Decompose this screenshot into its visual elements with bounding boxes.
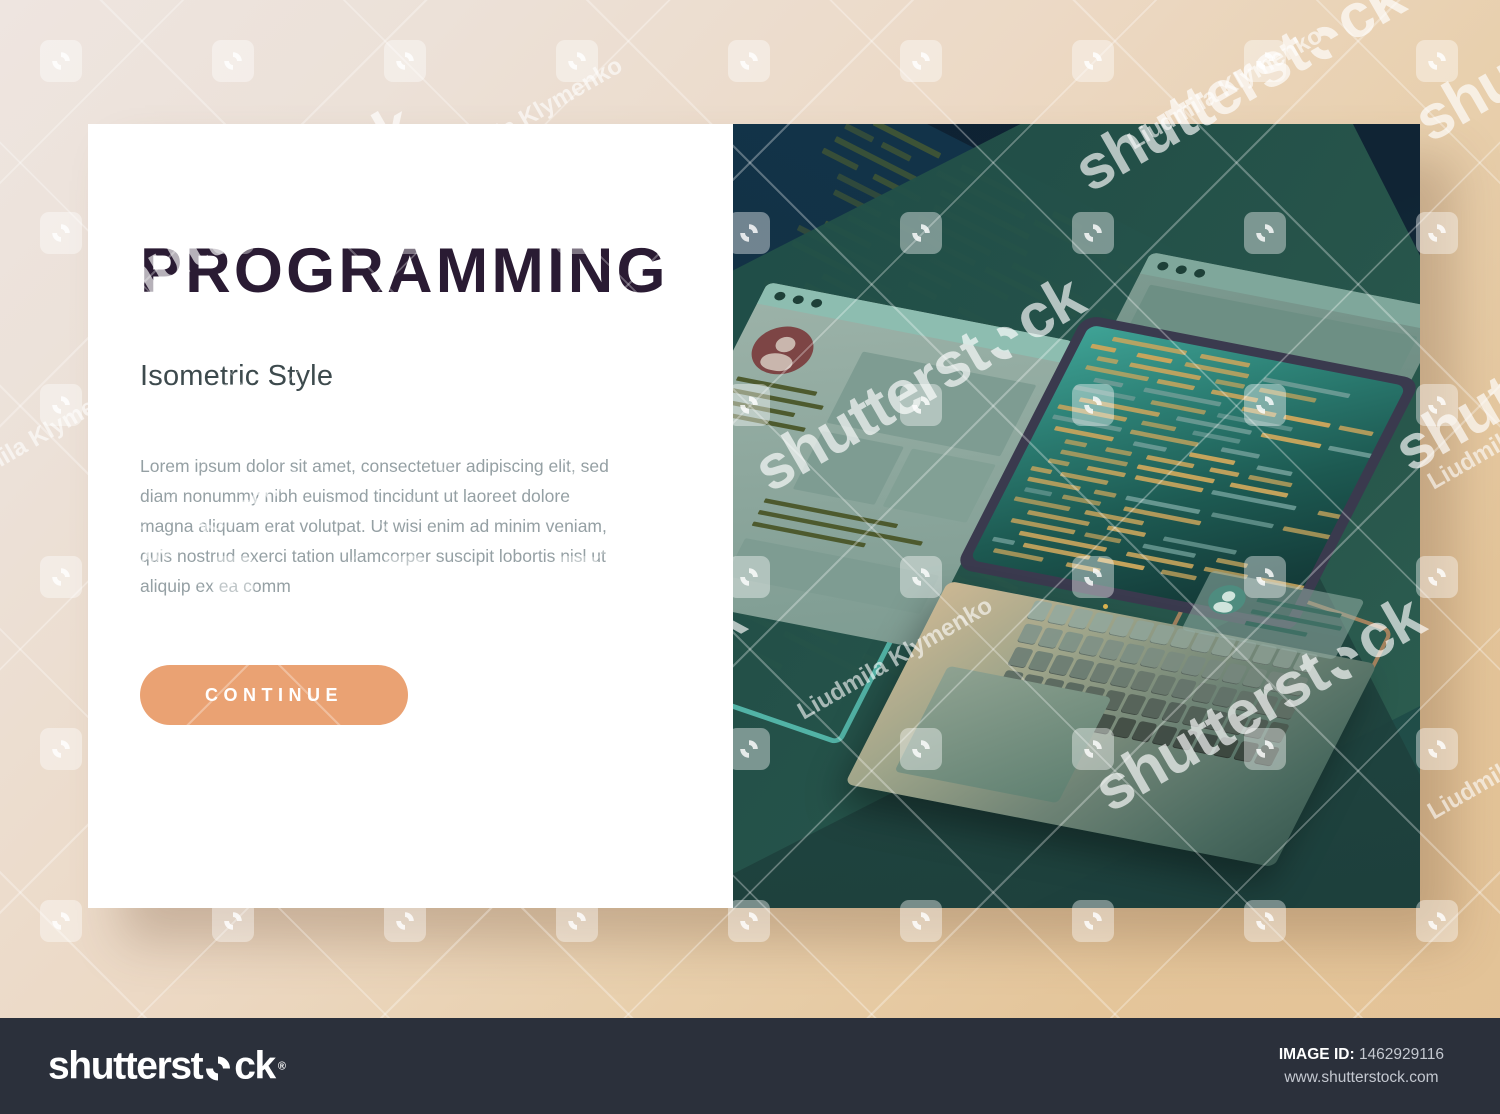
code-line <box>993 548 1044 562</box>
footer-bar: shutterst ck ® IMAGE ID: 1462929116 www.… <box>0 1018 1500 1114</box>
code-line <box>1141 421 1177 432</box>
continue-button[interactable]: CONTINUE <box>140 665 408 725</box>
shutter-logo-icon <box>1416 900 1458 942</box>
code-line <box>1220 447 1260 459</box>
shutter-logo-icon <box>728 40 770 82</box>
shutter-logo-icon <box>1416 556 1458 598</box>
shutter-logo-icon <box>900 40 942 82</box>
code-line <box>1260 433 1321 449</box>
code-line <box>1090 344 1117 353</box>
code-line <box>1105 447 1133 456</box>
code-line <box>1160 569 1197 580</box>
code-line <box>1256 465 1293 476</box>
code-line <box>1062 494 1102 506</box>
code-line <box>1211 512 1274 528</box>
user-avatar-icon <box>1202 582 1251 617</box>
shutter-logo-icon <box>556 40 598 82</box>
code-line <box>1156 379 1195 390</box>
code-line <box>1097 557 1145 570</box>
code-line <box>1132 441 1167 452</box>
shutter-logo-icon <box>384 40 426 82</box>
code-line <box>1086 466 1126 478</box>
code-line <box>1065 562 1101 573</box>
shutter-logo-icon <box>1416 384 1458 426</box>
shutter-aperture-icon <box>203 1051 233 1081</box>
hero-card: PROGRAMMING Isometric Style Lorem ipsum … <box>88 124 1420 908</box>
code-line <box>1093 489 1117 497</box>
laptop <box>853 304 1413 864</box>
image-id-row: IMAGE ID: 1462929116 <box>1279 1043 1444 1066</box>
shutter-logo-icon <box>40 384 82 426</box>
shutter-logo-icon <box>1416 212 1458 254</box>
code-line <box>1248 475 1293 488</box>
avatar-head <box>1220 590 1237 602</box>
shutter-logo-icon <box>1416 40 1458 82</box>
window-text-line <box>733 411 806 432</box>
shutter-logo-icon <box>40 900 82 942</box>
code-line <box>1136 353 1173 364</box>
code-line <box>992 537 1016 545</box>
shutter-logo-icon <box>1072 40 1114 82</box>
isometric-illustration <box>733 124 1420 908</box>
shutter-logo-icon <box>40 556 82 598</box>
avatar-body <box>1211 600 1234 614</box>
code-line <box>1338 425 1374 436</box>
code-line <box>844 124 874 143</box>
image-id-label: IMAGE ID: <box>1279 1046 1355 1063</box>
shutter-logo-icon <box>40 728 82 770</box>
logo-text-start: shutterst <box>48 1047 202 1086</box>
card-text-line <box>1244 621 1307 637</box>
page-title: PROGRAMMING <box>140 240 733 303</box>
footer-meta: IMAGE ID: 1462929116 www.shutterstock.co… <box>1279 1043 1444 1090</box>
watermark-author: Liudmila Klymenko <box>1423 362 1500 496</box>
laptop-webcam-icon <box>1103 604 1108 609</box>
image-id-value: 1462929116 <box>1359 1046 1444 1063</box>
code-line <box>1215 379 1246 389</box>
code-line <box>1192 430 1241 443</box>
avatar-body <box>757 351 796 374</box>
body-paragraph: Lorem ipsum dolor sit amet, consectetuer… <box>140 451 615 601</box>
code-line <box>1084 532 1122 543</box>
avatar-head <box>772 335 798 353</box>
shutter-logo-icon <box>1244 40 1286 82</box>
code-line <box>881 142 912 162</box>
logo-text-end: ck <box>234 1047 275 1086</box>
shutter-logo-icon <box>212 40 254 82</box>
code-line <box>1209 467 1240 477</box>
code-line <box>1106 525 1146 537</box>
watermark-author: Liudmila Klymenko <box>1423 692 1500 826</box>
screenshot-stage: PROGRAMMING Isometric Style Lorem ipsum … <box>0 0 1500 1114</box>
code-line <box>1216 558 1249 568</box>
shutter-logo-icon <box>40 212 82 254</box>
illustration-panel <box>733 124 1420 908</box>
code-line <box>1064 439 1088 447</box>
shutter-logo-icon <box>40 40 82 82</box>
code-line <box>1030 466 1053 474</box>
registered-mark: ® <box>278 1062 285 1073</box>
code-line <box>1189 452 1236 465</box>
code-line <box>1093 378 1124 388</box>
user-avatar-icon <box>742 322 823 380</box>
shutterstock-logo[interactable]: shutterst ck ® <box>48 1047 285 1086</box>
code-line <box>1047 458 1070 466</box>
shutter-logo-icon <box>1416 728 1458 770</box>
page-subtitle: Isometric Style <box>140 360 733 393</box>
code-line <box>1096 356 1119 364</box>
footer-url: www.shutterstock.com <box>1279 1066 1444 1089</box>
hero-text-panel: PROGRAMMING Isometric Style Lorem ipsum … <box>88 124 733 908</box>
code-line <box>1241 407 1277 418</box>
code-line <box>1024 487 1053 496</box>
